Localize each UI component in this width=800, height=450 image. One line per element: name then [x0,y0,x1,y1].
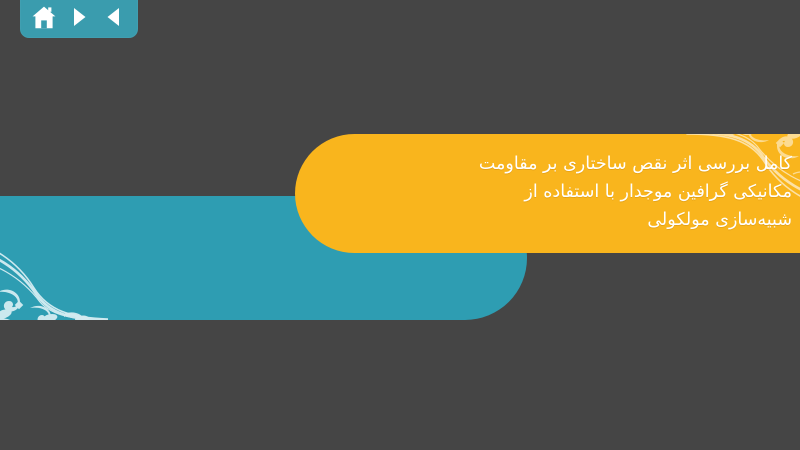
arabesque-corner-ornament-teal [0,196,108,320]
back-triangle-icon [105,7,123,27]
forward-button[interactable] [65,4,93,30]
orange-title-banner [295,134,800,253]
home-button[interactable] [30,4,58,30]
home-icon [32,6,56,29]
arabesque-corner-ornament-orange [675,134,800,253]
slide-viewer: کامل بررسی اثر نقص ساختاری بر مقاومت مکا… [0,0,800,450]
viewer-navigation-bar [20,0,138,38]
forward-triangle-icon [70,7,88,27]
back-button[interactable] [100,4,128,30]
